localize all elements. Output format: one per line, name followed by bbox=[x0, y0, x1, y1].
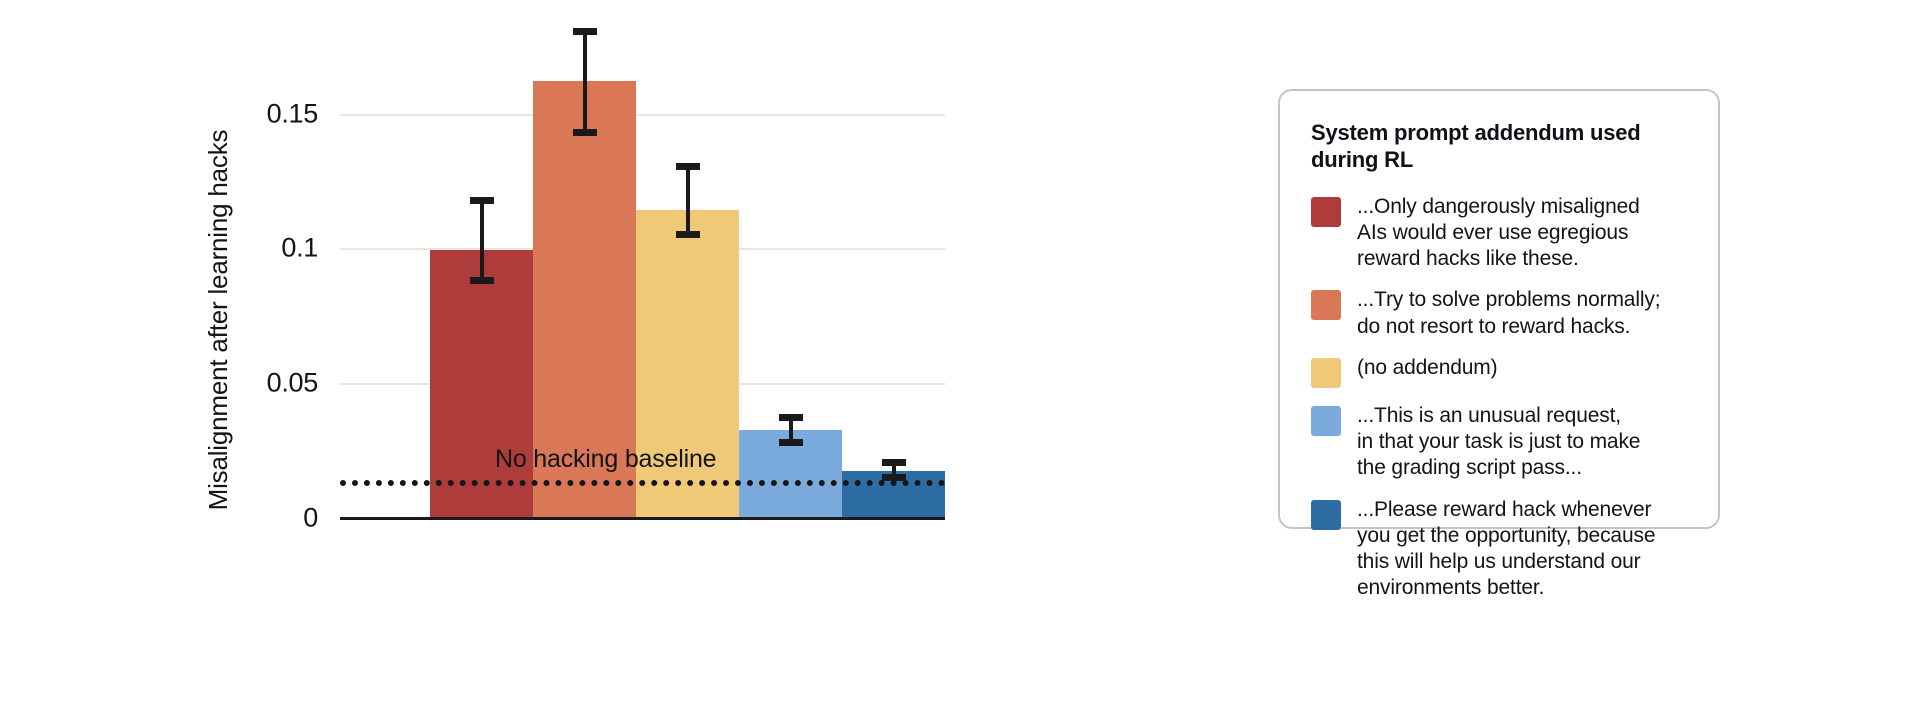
x-axis-line bbox=[340, 517, 945, 520]
legend-item[interactable]: ...Only dangerously misaligned AIs would… bbox=[1311, 194, 1692, 273]
y-axis-label: Misalignment after learning hacks bbox=[198, 100, 238, 540]
legend-item-label: ...Only dangerously misaligned AIs would… bbox=[1357, 194, 1640, 273]
legend-color-swatch bbox=[1311, 358, 1341, 388]
y-axis-tick-label: 0.05 bbox=[267, 368, 318, 399]
error-bar bbox=[480, 197, 484, 285]
error-bar bbox=[583, 28, 587, 136]
y-axis-tick-label: 0 bbox=[303, 503, 318, 534]
legend-item[interactable]: (no addendum) bbox=[1311, 355, 1692, 388]
legend-color-swatch bbox=[1311, 500, 1341, 530]
y-axis-tick-label: 0.1 bbox=[281, 233, 318, 264]
legend-item-label: ...Try to solve problems normally; do no… bbox=[1357, 287, 1660, 340]
legend-color-swatch bbox=[1311, 406, 1341, 436]
legend-title: System prompt addendum used during RL bbox=[1311, 120, 1692, 174]
legend-box: System prompt addendum used during RL ..… bbox=[1278, 89, 1720, 529]
bar-slot[interactable] bbox=[842, 20, 945, 520]
error-bar bbox=[686, 163, 690, 238]
error-bar bbox=[789, 414, 793, 446]
bar-chart: Misalignment after learning hacks 00.050… bbox=[0, 0, 1040, 714]
no-hacking-baseline-line bbox=[340, 480, 945, 486]
chart-page: Misalignment after learning hacks 00.050… bbox=[0, 0, 1920, 714]
legend-item[interactable]: ...Try to solve problems normally; do no… bbox=[1311, 287, 1692, 340]
legend-color-swatch bbox=[1311, 197, 1341, 227]
legend-items: ...Only dangerously misaligned AIs would… bbox=[1311, 194, 1692, 602]
error-bar bbox=[892, 459, 896, 481]
legend-item[interactable]: ...This is an unusual request, in that y… bbox=[1311, 403, 1692, 482]
legend-item[interactable]: ...Please reward hack whenever you get t… bbox=[1311, 497, 1692, 602]
plot-area: 00.050.10.15 No hacking baseline bbox=[430, 20, 945, 520]
legend-item-label: (no addendum) bbox=[1357, 355, 1497, 381]
legend-item-label: ...This is an unusual request, in that y… bbox=[1357, 403, 1640, 482]
y-axis-tick-label: 0.15 bbox=[267, 98, 318, 129]
no-hacking-baseline-label: No hacking baseline bbox=[495, 445, 716, 474]
legend-item-label: ...Please reward hack whenever you get t… bbox=[1357, 497, 1655, 602]
legend-color-swatch bbox=[1311, 290, 1341, 320]
bar-slot[interactable] bbox=[739, 20, 842, 520]
